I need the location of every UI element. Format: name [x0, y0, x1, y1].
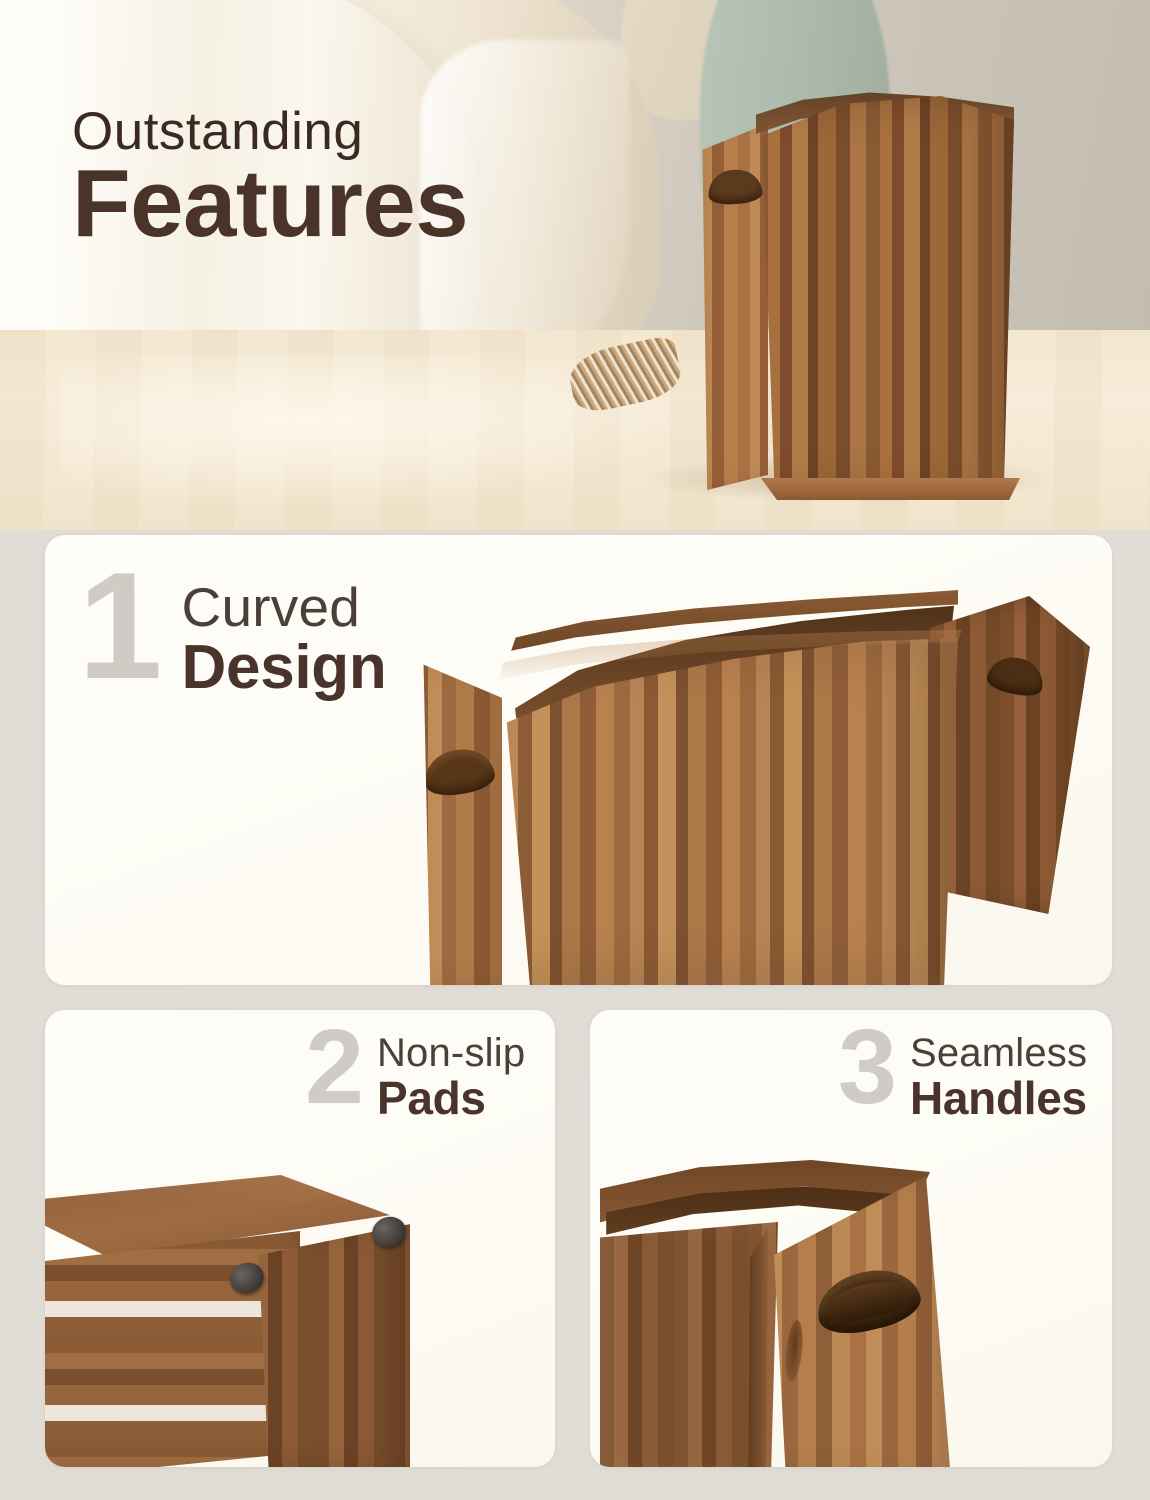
feature-2-number: 2 — [305, 1024, 361, 1111]
feature-1-product-image — [390, 580, 1090, 985]
feature-2-title-bold: Pads — [377, 1074, 525, 1124]
hero-banner: Outstanding Features — [0, 0, 1150, 530]
feature-1-title-thin: Curved — [182, 578, 387, 637]
feature-3-title-thin: Seamless — [910, 1032, 1087, 1075]
hero-bin-base — [750, 478, 1020, 500]
hero-bin-front-panel — [754, 96, 1014, 496]
feature-infographic-page: Outstanding Features 1 Curved Design — [0, 0, 1150, 1500]
feature-1-label: 1 Curved Design — [78, 578, 386, 702]
feature-3-title: Seamless Handles — [910, 1032, 1087, 1124]
feature-3-number: 3 — [838, 1024, 894, 1111]
hero-product-waste-bin — [672, 78, 1102, 498]
feature-1-number: 1 — [78, 564, 160, 689]
feature-2-product-image — [45, 1175, 470, 1467]
feature-1-title: Curved Design — [182, 578, 387, 702]
feature-3-label: 3 Seamless Handles — [838, 1032, 1087, 1124]
feature-3-title-bold: Handles — [910, 1074, 1087, 1124]
feature-2-label: 2 Non-slip Pads — [305, 1032, 525, 1124]
feature-2-title: Non-slip Pads — [377, 1032, 525, 1124]
page-title: Outstanding Features — [72, 104, 468, 252]
bin-handle-cutout-icon — [421, 745, 497, 799]
hero-bin-left-panel — [690, 112, 768, 490]
feature-2-title-thin: Non-slip — [377, 1032, 525, 1075]
bin-left-panel — [390, 658, 502, 985]
feature-1-title-bold: Design — [182, 635, 387, 702]
page-title-line2: Features — [72, 156, 468, 252]
feature-3-product-image — [600, 1160, 1070, 1467]
